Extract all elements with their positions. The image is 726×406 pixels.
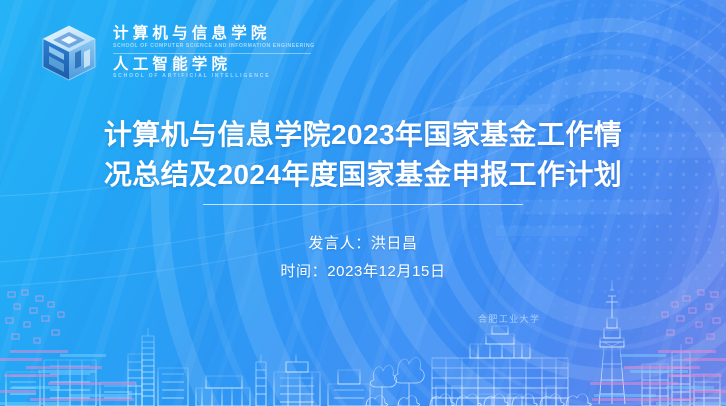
page-title-line-1: 计算机与信息学院2023年国家基金工作情 bbox=[58, 115, 668, 155]
school-secondary-name-en: SCHOOL OF ARTIFICIAL INTELLIGENCE bbox=[113, 73, 315, 81]
pixel-dissolve-right-decoration bbox=[556, 286, 726, 406]
page-title: 计算机与信息学院2023年国家基金工作情 况总结及2024年度国家基金申报工作计… bbox=[0, 115, 726, 196]
school-primary-name-cn: 计算机与信息学院 bbox=[113, 25, 311, 42]
school-name-block: 计算机与信息学院 SCHOOL OF COMPUTER SCIENCE AND … bbox=[113, 25, 311, 81]
skyline-building-label: 合肥工业大学 bbox=[478, 313, 540, 324]
school-secondary-name-cn: 人工智能学院 bbox=[113, 56, 311, 73]
presentation-meta: 发言人：洪日昌 时间：2023年12月15日 bbox=[0, 230, 726, 286]
logo-divider bbox=[113, 53, 311, 54]
date-line: 时间：2023年12月15日 bbox=[0, 258, 726, 286]
title-slide: 合肥工业大学 bbox=[0, 0, 726, 406]
school-logo-lockup: 计算机与信息学院 SCHOOL OF COMPUTER SCIENCE AND … bbox=[38, 22, 311, 84]
isometric-cube-logo-icon bbox=[38, 22, 100, 84]
pixel-dissolve-left-decoration bbox=[0, 286, 170, 406]
school-primary-name-en: SCHOOL OF COMPUTER SCIENCE AND INFORMATI… bbox=[113, 43, 315, 51]
page-title-line-2: 况总结及2024年度国家基金申报工作计划 bbox=[58, 155, 668, 195]
title-divider bbox=[203, 204, 523, 205]
speaker-line: 发言人：洪日昌 bbox=[0, 230, 726, 258]
